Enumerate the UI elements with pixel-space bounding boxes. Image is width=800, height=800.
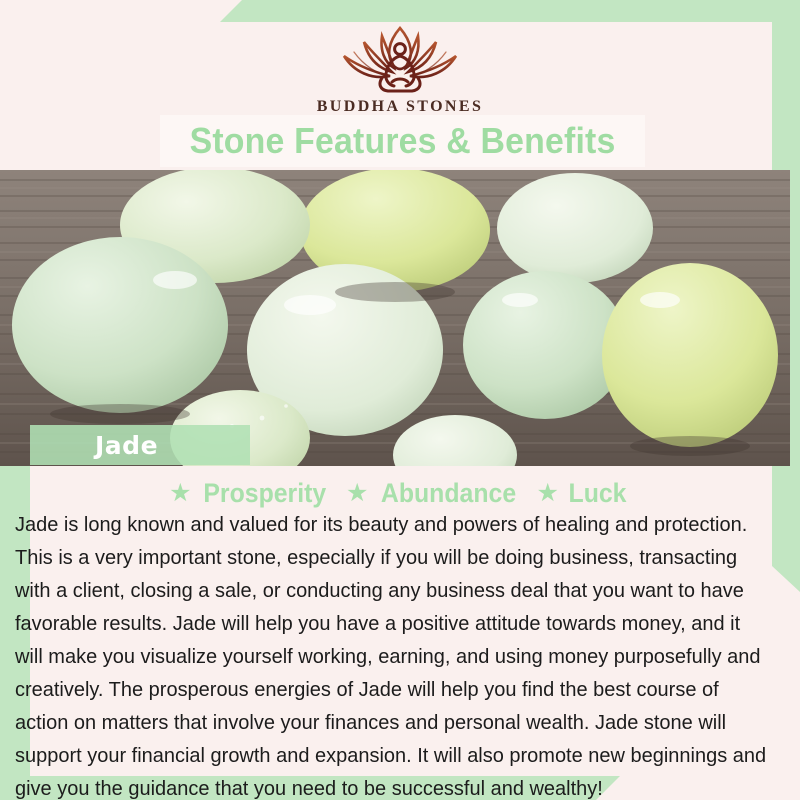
- keyword-abundance: Abundance: [381, 478, 516, 509]
- brand-logo: BUDDHA STONES: [0, 22, 800, 116]
- title-band: Stone Features & Benefits: [160, 115, 645, 167]
- brand-name: BUDDHA STONES: [0, 98, 800, 116]
- page-title: Stone Features & Benefits: [190, 120, 616, 162]
- lotus-meditation-icon: [324, 22, 476, 94]
- star-icon: ★: [346, 478, 368, 508]
- stone-name-badge: Jade: [30, 425, 250, 465]
- poster-canvas: BUDDHA STONES Stone Features & Benefits: [0, 0, 800, 800]
- keyword-luck: Luck: [568, 478, 626, 509]
- keyword-row: ★Prosperity★Abundance★Luck: [0, 478, 800, 509]
- stone-description: Jade is long known and valued for its be…: [15, 508, 771, 800]
- stone-name-label: Jade: [95, 431, 158, 460]
- star-icon: ★: [536, 478, 558, 508]
- star-icon: ★: [169, 478, 191, 508]
- stone-photo-graphic: [0, 170, 790, 466]
- decor-top-green-band: [220, 0, 800, 22]
- keyword-prosperity: Prosperity: [204, 478, 327, 509]
- stone-photo: [0, 170, 790, 466]
